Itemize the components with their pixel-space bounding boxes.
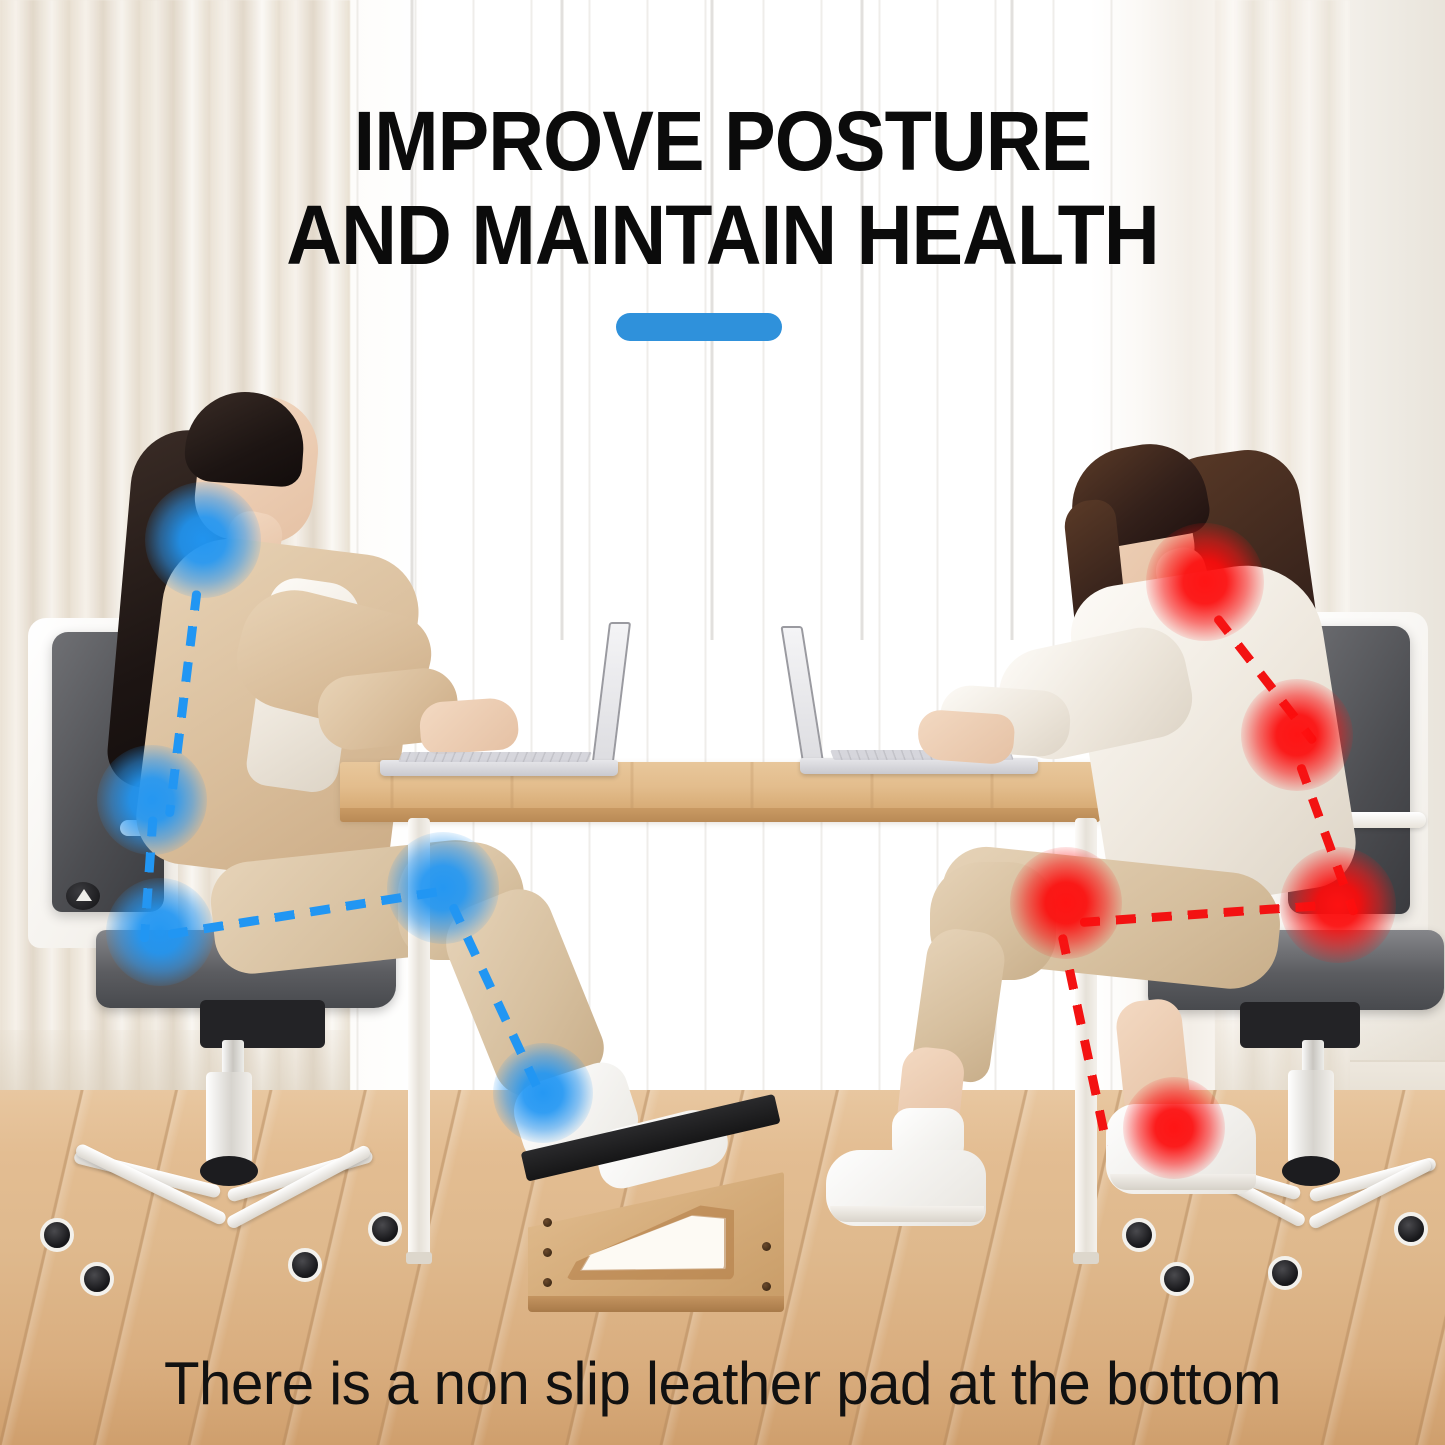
posture-dot-good-ankle [493,1043,593,1143]
footrest-screw-3 [543,1278,552,1287]
posture-dot-good-lower-back [97,745,207,855]
person-right-shoe-sole-front [830,1206,984,1222]
bottom-caption: There is a non slip leather pad at the b… [22,1352,1424,1416]
chair-right-caster-4 [1394,1212,1428,1246]
footrest-base-edge [528,1296,784,1312]
posture-dot-bad-upper-back [1241,679,1353,791]
chair-left-caster-1 [40,1218,74,1252]
desk-front-edge [340,808,1100,822]
chair-left-gas-cylinder [206,1072,252,1164]
posture-dot-bad-seat [1280,847,1396,963]
headline-line-1: IMPROVE POSTURE [58,98,1387,184]
posture-dot-bad-neck [1146,523,1264,641]
chair-right-gas-cylinder [1288,1070,1334,1164]
product-marketing-image: IMPROVE POSTURE AND MAINTAIN HEALTH Ther… [0,0,1445,1445]
chair-left-base-hub [200,1156,258,1186]
laptop-left-keyboard [398,752,592,762]
person-right-hand [916,709,1015,766]
chair-right-caster-2 [1160,1262,1194,1296]
footrest-screw-2 [543,1248,552,1257]
chair-left-caster-3 [288,1248,322,1282]
posture-dot-good-knee [387,832,499,944]
person-left-hand [418,697,519,756]
chair-right-caster-1 [1122,1218,1156,1252]
footrest-screw-4 [762,1242,771,1251]
footrest-screw-1 [543,1218,552,1227]
desk-leg-foot-right [1073,1252,1099,1264]
chair-left-tilt-mechanism [200,1000,325,1048]
chair-right-base-hub [1282,1156,1340,1186]
chair-left-caster-2 [80,1262,114,1296]
chair-left-lever-glyph [76,889,92,901]
posture-dot-bad-hip [1010,847,1122,959]
chair-left-caster-4 [368,1212,402,1246]
posture-dot-good-hip [106,878,214,986]
footrest-screw-5 [762,1282,771,1291]
desk-leg-foot-left [406,1252,432,1264]
posture-dot-good-neck [145,482,261,598]
headline-line-2: AND MAINTAIN HEALTH [58,192,1387,278]
laptop-left-base [380,760,618,776]
chair-right-tilt-mechanism [1240,1002,1360,1048]
posture-dot-bad-ankle [1123,1077,1225,1179]
accent-divider-bar [616,313,782,341]
chair-right-caster-3 [1268,1256,1302,1290]
